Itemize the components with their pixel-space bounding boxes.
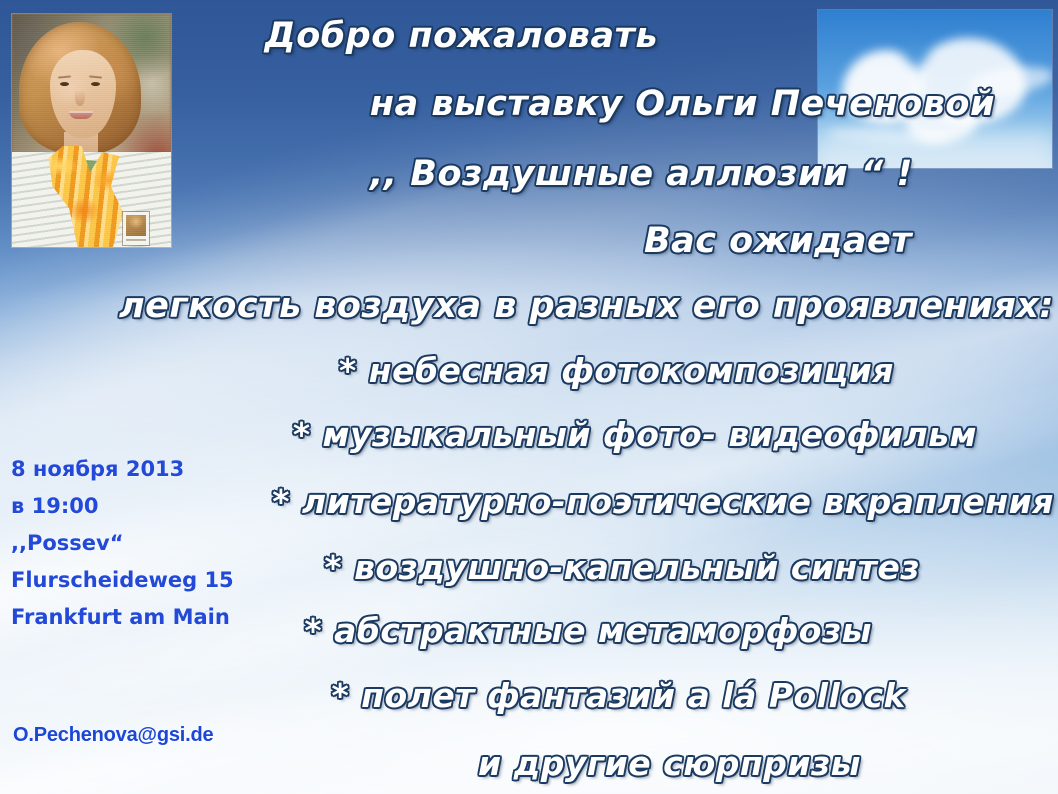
- bullet-item-7: и другие сюрпризы: [478, 744, 861, 783]
- line-welcome: Добро пожаловать: [265, 16, 658, 56]
- bullet-item-5: * абстрактные метаморфозы: [304, 611, 872, 650]
- line-awaits: Вас ожидает: [644, 221, 912, 261]
- event-time: в 19:00: [11, 488, 311, 525]
- bullet-item-3: * литературно-поэтические вкрапления: [272, 482, 1054, 521]
- event-details-block: 8 ноября 2013 в 19:00 ,,Possev“ Flursche…: [11, 451, 311, 636]
- line-lightness: легкость воздуха в разных его проявления…: [119, 286, 1054, 326]
- venue-street: Flurscheideweg 15: [11, 562, 311, 599]
- bullet-item-6: * полет фантазий a lá Pollock: [332, 676, 907, 715]
- bullet-item-1: * небесная фотокомпозиция: [339, 351, 894, 390]
- line-exhibition: на выставку Ольги Печеновой: [370, 84, 995, 124]
- portrait-film-grain: [12, 14, 171, 247]
- contact-email[interactable]: O.Pechenova@gsi.de: [13, 724, 213, 747]
- portrait-photo: [12, 14, 171, 247]
- line-title: ,, Воздушные аллюзии “ !: [370, 154, 913, 194]
- event-date: 8 ноября 2013: [11, 451, 311, 488]
- bullet-item-4: * воздушно-капельный синтез: [324, 548, 920, 587]
- venue-name: ,,Possev“: [11, 525, 311, 562]
- exhibition-invitation-poster: Добро пожаловать на выставку Ольги Печен…: [0, 0, 1058, 794]
- main-text-block: Добро пожаловать на выставку Ольги Печен…: [170, 0, 1058, 794]
- bullet-item-2: * музыкальный фото- видеофильм: [293, 415, 977, 454]
- venue-city: Frankfurt am Main: [11, 599, 311, 636]
